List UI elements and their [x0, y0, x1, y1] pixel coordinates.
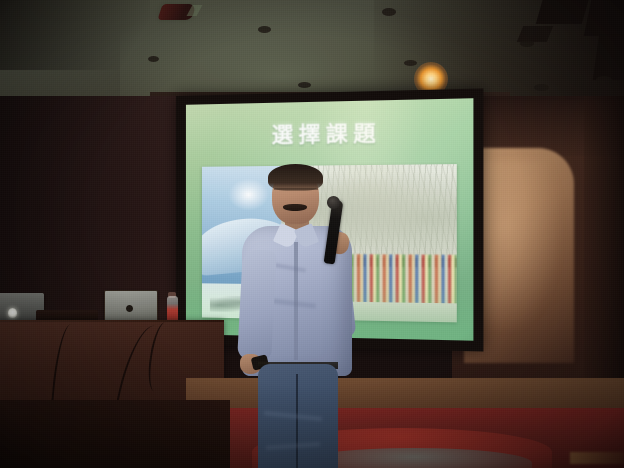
recessed-spot-icon	[382, 8, 396, 16]
ceiling-beam-icon	[584, 0, 624, 36]
recessed-spot-icon	[298, 82, 311, 88]
recessed-spot-icon	[520, 40, 534, 47]
ceiling-beam-icon	[593, 34, 624, 80]
podium-foreground	[0, 400, 230, 468]
apple-logo-icon	[8, 308, 17, 318]
recessed-spot-icon	[534, 84, 549, 91]
recessed-spot-icon	[596, 76, 612, 84]
ceiling-shadow-left	[0, 0, 150, 70]
eyeglasses-icon	[274, 188, 318, 199]
recessed-spot-icon	[404, 60, 417, 66]
jeans-seam	[296, 374, 298, 468]
right-wall-edge-shadow	[584, 96, 624, 386]
laptop-logo-icon	[126, 305, 133, 312]
recessed-spot-icon	[148, 56, 159, 62]
presenter-hair	[268, 164, 323, 191]
mustache	[283, 204, 307, 211]
shirt-placket	[294, 242, 298, 360]
presentation-photograph: 選擇課題	[0, 0, 624, 468]
ceiling-beam-icon	[536, 0, 591, 24]
recessed-spot-icon	[258, 26, 271, 33]
presenter-left-arm	[237, 249, 277, 361]
presenter	[236, 168, 366, 468]
lit-wall-panel-glow	[470, 160, 560, 330]
stage-floor-edge-strip	[570, 452, 624, 464]
recessed-fixture-red-icon	[157, 4, 196, 20]
